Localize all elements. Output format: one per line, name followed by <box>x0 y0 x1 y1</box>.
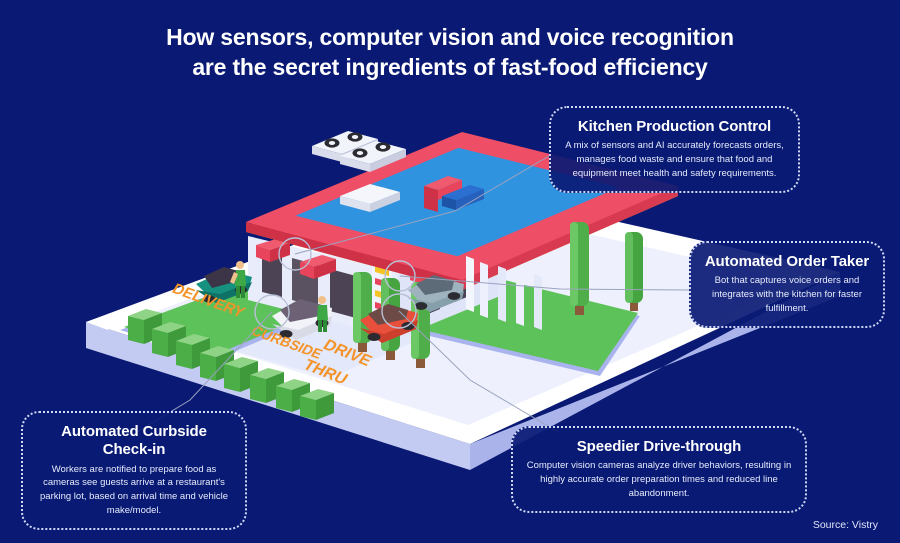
callout-speedier-drive-through[interactable]: Speedier Drive-through Computer vision c… <box>511 426 807 513</box>
callout-body: Workers are notified to prepare food as … <box>35 463 233 518</box>
source-attribution: Source: Vistry <box>813 519 878 531</box>
callout-title: Speedier Drive-through <box>525 438 793 456</box>
callout-automated-order-taker[interactable]: Automated Order Taker Bot that captures … <box>689 241 885 328</box>
callout-title: Automated Curbside Check-in <box>35 423 233 460</box>
callout-title: Kitchen Production Control <box>563 118 786 136</box>
callout-body: A mix of sensors and AI accurately forec… <box>563 139 786 180</box>
callout-body: Bot that captures voice orders and integ… <box>703 274 871 315</box>
infographic-canvas: How sensors, computer vision and voice r… <box>0 0 900 543</box>
callout-body: Computer vision cameras analyze driver b… <box>525 459 793 500</box>
callout-title: Automated Order Taker <box>703 253 871 271</box>
callout-automated-curbside-check-in[interactable]: Automated Curbside Check-in Workers are … <box>21 411 247 530</box>
callout-kitchen-production-control[interactable]: Kitchen Production Control A mix of sens… <box>549 106 800 193</box>
